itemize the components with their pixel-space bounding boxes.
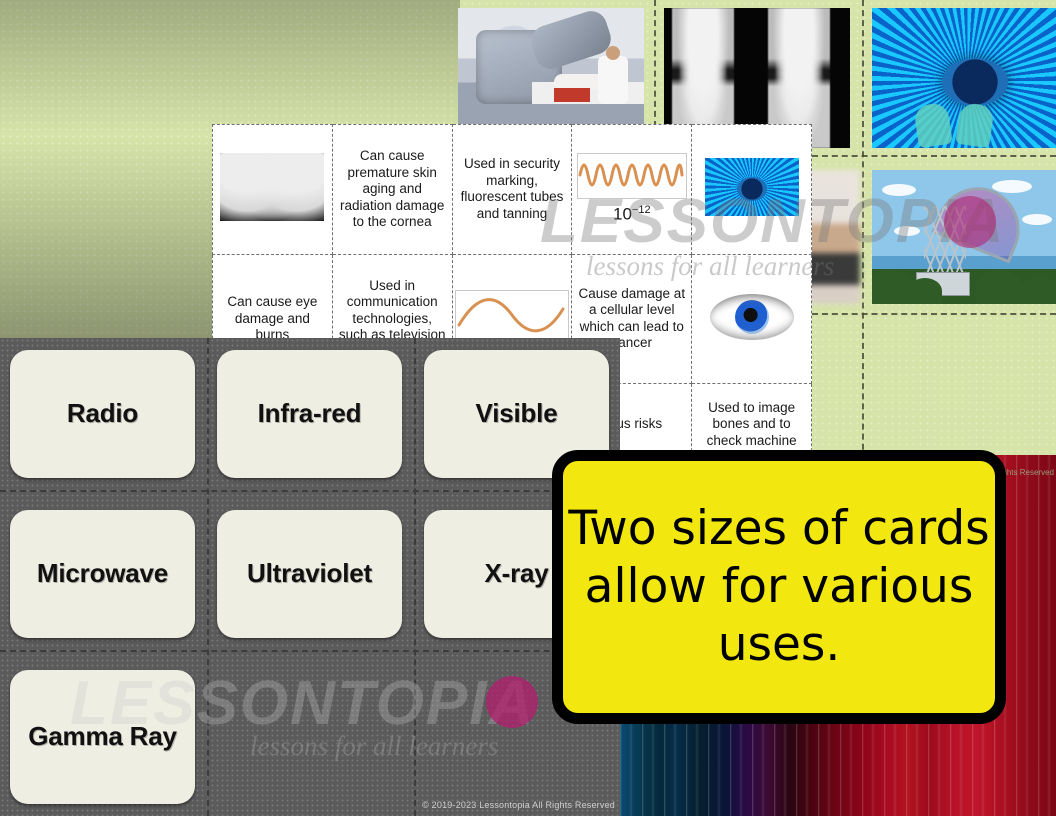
eye-thumb [704, 288, 800, 346]
card-radio[interactable]: Radio [10, 350, 195, 478]
tanning-bed-thumb [705, 158, 799, 216]
card-label: Gamma Ray [28, 722, 177, 751]
card-label: Infra-red [258, 399, 362, 428]
uv-use-cell: Used in security marking, fluorescent tu… [452, 125, 572, 255]
eye-image [692, 254, 812, 384]
hand-left [913, 102, 953, 148]
tray-divider-v2 [414, 338, 416, 816]
callout-text: Two sizes of cards allow for various use… [563, 500, 995, 675]
high-frequency-wave-cell: 10−12 [572, 125, 692, 255]
card-tray: Radio Infra-red Visible Microwave Ultrav… [0, 338, 620, 816]
watermark-dot-icon [486, 676, 538, 728]
wavelength-label: 10−12 [574, 204, 689, 225]
tanning-fan [942, 58, 1008, 106]
high-frequency-wave-icon [577, 153, 687, 199]
card-label: Visible [476, 399, 558, 428]
card-label: X-ray [484, 559, 548, 588]
uv-effect-cell: Can cause premature skin aging and radia… [332, 125, 452, 255]
card-infra-red[interactable]: Infra-red [217, 350, 402, 478]
tray-divider-v1 [207, 338, 209, 816]
cloud-1 [882, 184, 916, 196]
knee-xray-thumb [220, 153, 324, 221]
card-label: Microwave [37, 559, 168, 588]
tree-2 [908, 278, 942, 304]
tanning-bed-image [692, 125, 812, 255]
card-label: Radio [67, 399, 138, 428]
tree-3 [976, 270, 1022, 304]
card-microwave[interactable]: Microwave [10, 510, 195, 638]
red-blanket [554, 88, 590, 102]
cloud-2 [992, 180, 1032, 193]
guide-line-v2 [862, 0, 864, 480]
eye-lid [710, 294, 794, 340]
xray-knees-image [213, 125, 333, 255]
radiotherapy-machine-photo [458, 8, 644, 128]
card-ultraviolet[interactable]: Ultraviolet [217, 510, 402, 638]
slide-stage: Can cause premature skin aging and radia… [0, 0, 1056, 816]
card-label: Ultraviolet [247, 559, 372, 588]
card-gamma-ray[interactable]: Gamma Ray [10, 670, 195, 804]
clinician-figure [598, 56, 628, 104]
low-frequency-wave-icon [455, 290, 569, 344]
cloud-3 [1022, 214, 1052, 225]
tanning-bed-photo [872, 8, 1056, 148]
tree-4 [1020, 276, 1056, 304]
tray-divider-h2 [0, 650, 620, 652]
cloud-4 [894, 226, 920, 236]
watermark-dot-icon [944, 196, 996, 248]
watermark-tagline: lessons for all learners [250, 731, 535, 762]
tray-divider-h1 [0, 490, 620, 492]
table-row: Can cause premature skin aging and radia… [213, 125, 812, 255]
copyright-notice: © 2019-2023 Lessontopia All Rights Reser… [400, 800, 615, 810]
callout-box: Two sizes of cards allow for various use… [552, 450, 1006, 724]
hand-right [955, 102, 995, 148]
tree-1 [872, 270, 912, 304]
